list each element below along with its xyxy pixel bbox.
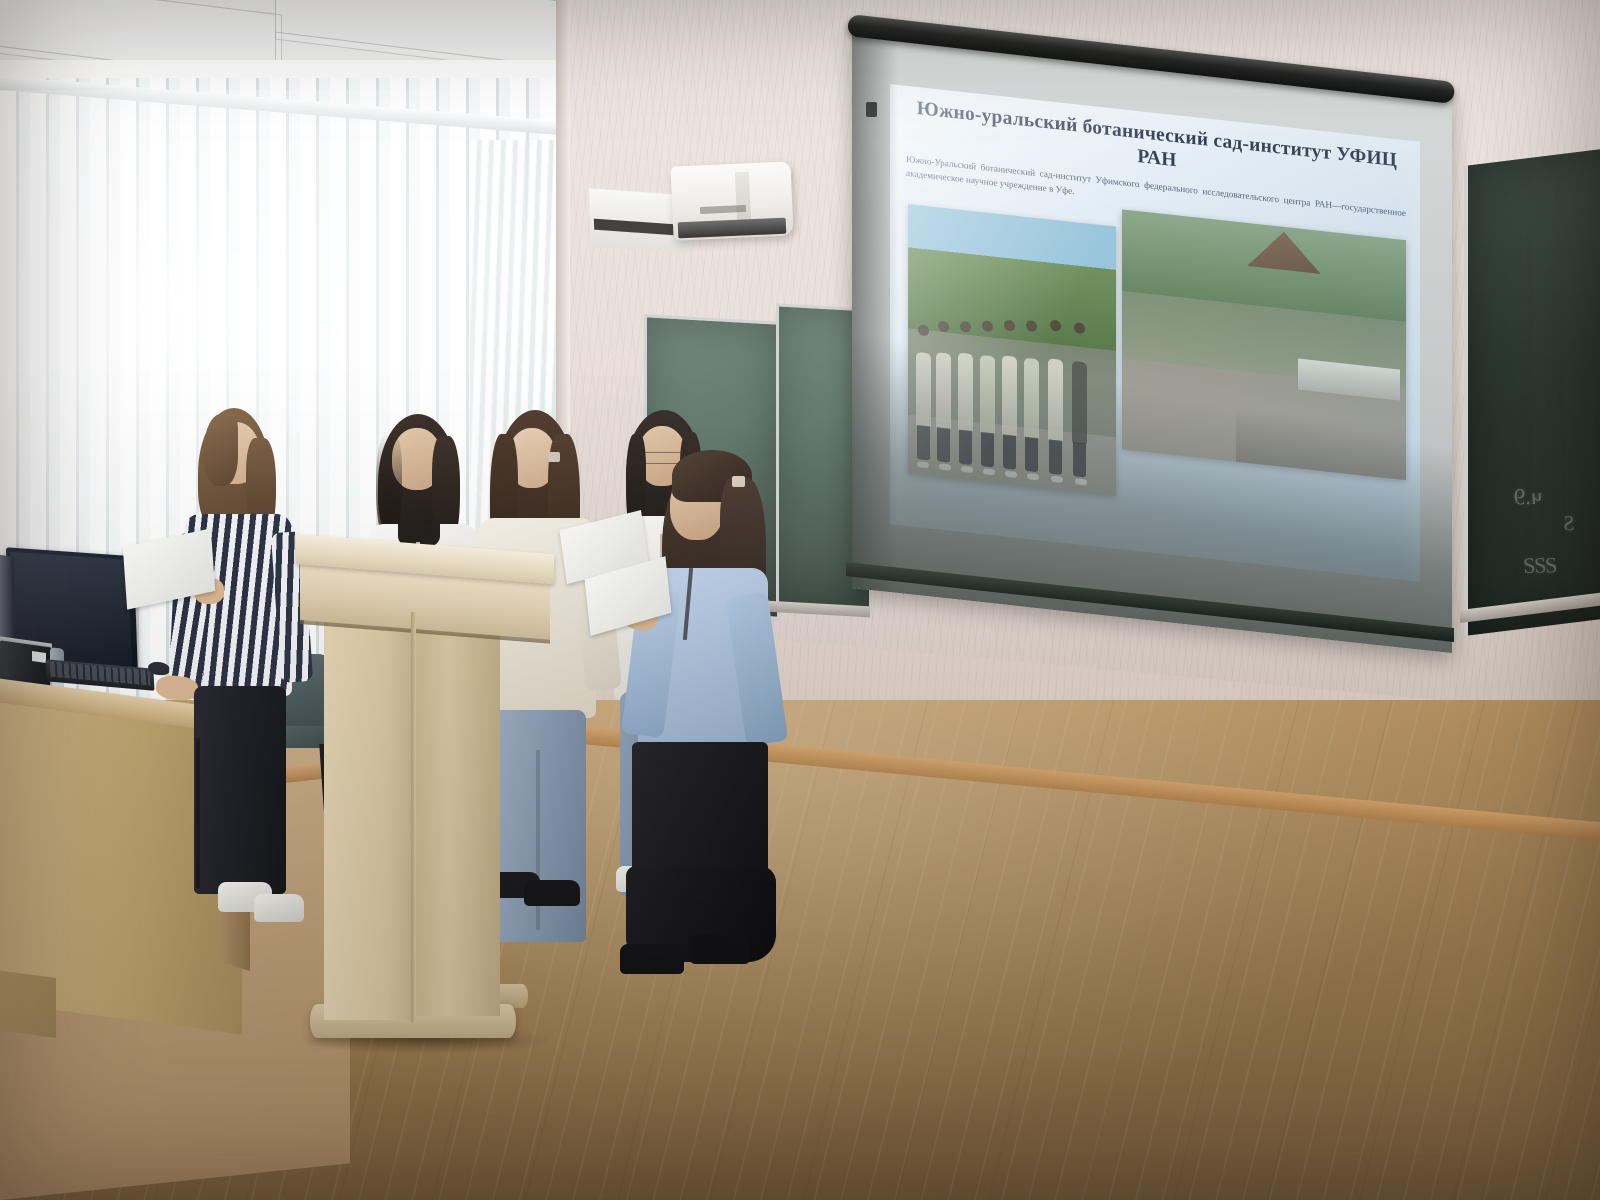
- slide-photo-garden: [1122, 209, 1406, 480]
- slide-photo-greenhouse: [1298, 358, 1400, 400]
- presenter-5-hair-clip: [732, 476, 745, 487]
- slide-photo-path: [1236, 409, 1406, 480]
- presenter-1-hair-front: [204, 414, 238, 486]
- lectern-column-edge: [411, 612, 416, 1022]
- ac-control-panel[interactable]: [735, 172, 751, 223]
- presenter-5-shoe-right: [690, 934, 750, 964]
- chalk-mark-1: ч.9: [1513, 484, 1544, 511]
- chalk-mark-2: S: [1563, 511, 1576, 536]
- lectern-column-left: [324, 612, 414, 1020]
- chalk-mark-3: ƧƧƧ: [1523, 552, 1559, 579]
- slide-photo-students: [908, 204, 1116, 497]
- presenter-1-shoe-right: [254, 894, 304, 922]
- presenter-3-shoe-right: [524, 880, 580, 906]
- pc-tower-badge: [32, 651, 46, 663]
- desk-front-panel: [0, 968, 56, 1038]
- slide-photo-building-roof: [1247, 228, 1321, 274]
- presenter-5-shoe-left: [620, 944, 684, 974]
- chalkboard-right: ч.9 S ƧƧƧ: [1464, 147, 1600, 636]
- lectern-column-right: [414, 616, 500, 1016]
- screen-roller-bracket: [866, 102, 877, 117]
- presenter-1-trouser-split: [196, 738, 200, 888]
- classroom-presentation-photo: ч.9 S ƧƧƧ Южно-уральский ботанический са…: [0, 0, 1600, 1200]
- projection-screen: Южно-уральский ботанический сад-институт…: [852, 28, 1452, 653]
- projected-slide: Южно-уральский ботанический сад-институт…: [890, 84, 1420, 582]
- presenter-1-trousers: [194, 686, 286, 894]
- presenter-3-hair-clip: [548, 452, 560, 462]
